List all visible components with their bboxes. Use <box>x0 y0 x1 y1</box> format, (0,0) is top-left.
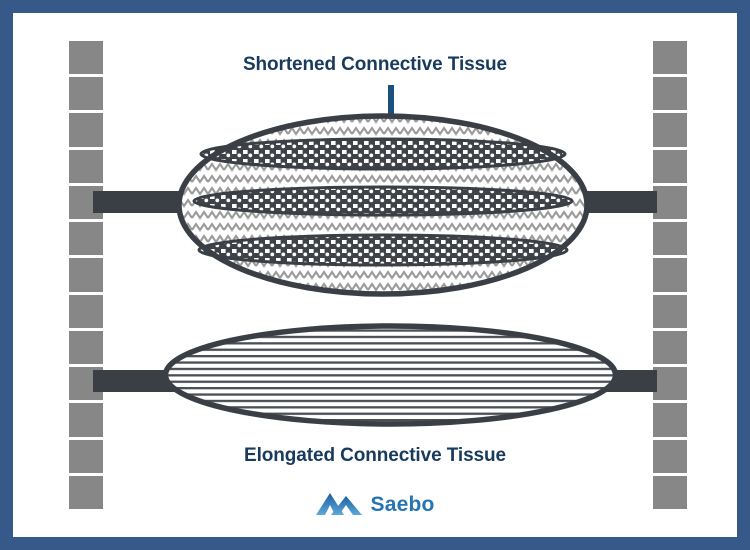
vertebra-segment <box>653 258 687 294</box>
vertebra-segment <box>653 222 687 258</box>
vertebra-segment <box>653 295 687 331</box>
vertebra-segment <box>69 77 103 113</box>
vertebra-segment <box>653 186 687 222</box>
vertebra-segment <box>69 295 103 331</box>
vertebra-segment <box>653 77 687 113</box>
vertebra-segment <box>69 41 103 77</box>
vertebra-segment <box>69 150 103 186</box>
page-title-elongated: Elongated Connective Tissue <box>13 445 737 467</box>
vertebra-segment <box>653 41 687 77</box>
saebo-logo: Saebo <box>13 491 737 517</box>
vertebra-segment <box>653 113 687 149</box>
vertebra-segment <box>653 403 687 439</box>
mountain-peaks-icon <box>315 491 363 517</box>
page-title-shortened: Shortened Connective Tissue <box>13 54 737 76</box>
vertebra-segment <box>69 113 103 149</box>
saebo-logo-text: Saebo <box>370 494 434 515</box>
vertebra-segment <box>653 367 687 403</box>
vertebra-segment <box>69 258 103 294</box>
vertebra-segment <box>653 150 687 186</box>
diagram-canvas: Shortened Connective Tissue <box>13 13 737 537</box>
vertebra-segment <box>653 331 687 367</box>
vertebra-column-left <box>69 41 103 509</box>
diagram-frame: Shortened Connective Tissue <box>0 0 750 550</box>
vertebra-segment <box>69 331 103 367</box>
vertebra-column-right <box>653 41 687 509</box>
vertebra-segment <box>69 403 103 439</box>
muscle-elongated <box>163 323 618 427</box>
muscle-shortened <box>176 113 590 297</box>
vertebra-segment <box>69 222 103 258</box>
